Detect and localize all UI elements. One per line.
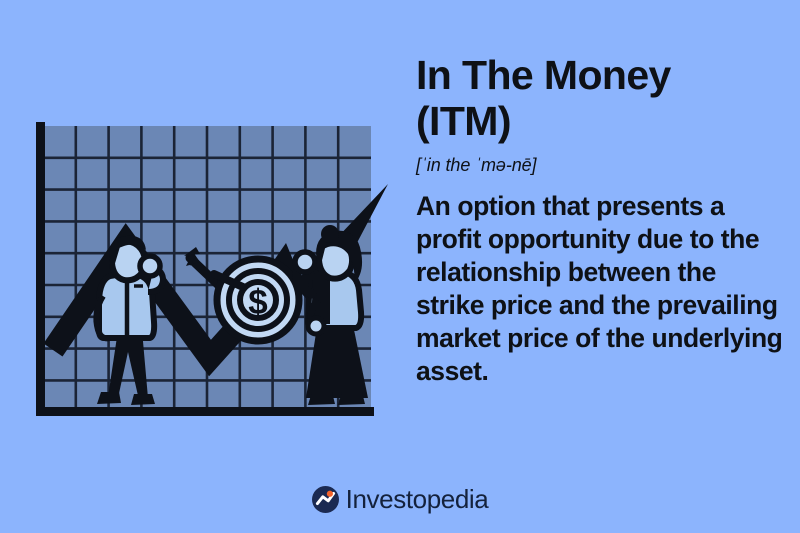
definition-text: An option that presents a profit opportu… (416, 190, 788, 388)
term-text-column: In The Money (ITM) [ˈin the ˈmə-nē] An o… (416, 52, 788, 388)
brand-name: Investopedia (346, 486, 489, 513)
svg-text:$: $ (248, 283, 267, 322)
stock-chart-illustration: $ (0, 0, 400, 480)
pronunciation-text: [ˈin the ˈmə-nē] (416, 154, 788, 176)
target-dartboard-icon: $ (214, 259, 299, 341)
investopedia-logo-icon (312, 486, 339, 513)
dollar-sign-icon: $ (248, 283, 267, 322)
brand-footer: Investopedia (0, 486, 800, 513)
page-title: In The Money (ITM) (416, 52, 788, 144)
dictionary-term-card: $ (0, 0, 800, 533)
